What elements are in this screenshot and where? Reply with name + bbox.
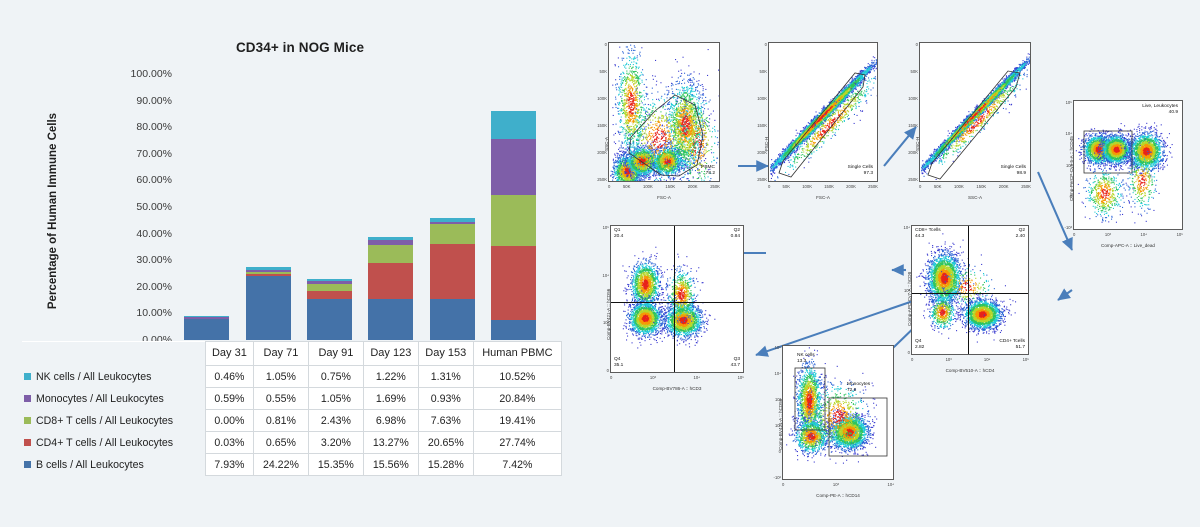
facs-x-ticks: 010³10⁴ (782, 482, 894, 487)
quadrant-vertical-divider (674, 226, 675, 372)
table-cell: 20.65% (418, 432, 473, 454)
y-tick-label: 30.00% (136, 254, 172, 266)
table-cell: 0.46% (205, 366, 253, 388)
legend-row-label: CD8+ T cells / All Leukocytes (22, 410, 205, 432)
bar-column[interactable] (430, 218, 475, 340)
table-header-row: Day 31Day 71Day 91Day 123Day 153Human PB… (22, 342, 562, 366)
table-cell: 0.03% (205, 432, 253, 454)
bar-segment[interactable] (368, 245, 413, 264)
legend-swatch-icon (24, 395, 31, 402)
legend-swatch-icon (24, 417, 31, 424)
bar-segment[interactable] (307, 291, 352, 300)
gate-label: Single Cells97.3 (848, 165, 873, 177)
bar-segment[interactable] (491, 195, 536, 247)
table-cell: 3.20% (308, 432, 363, 454)
facs-x-ticks: 050K100K150K200K250K (608, 184, 720, 189)
y-tick-label: 90.00% (136, 95, 172, 107)
facs-x-axis-label: SSC-A (919, 195, 1031, 200)
table-row: CD8+ T cells / All Leukocytes0.00%0.81%2… (22, 410, 562, 432)
table-cell: 1.22% (363, 366, 418, 388)
chart-title: CD34+ in NOG Mice (150, 40, 450, 55)
table-cell: 7.63% (418, 410, 473, 432)
y-tick-label: 20.00% (136, 281, 172, 293)
legend-swatch-icon (24, 461, 31, 468)
table-corner-cell (22, 342, 205, 366)
table-row: CD4+ T cells / All Leukocytes0.03%0.65%3… (22, 432, 562, 454)
table-cell: 1.69% (363, 388, 418, 410)
table-cell: 1.05% (253, 366, 308, 388)
facs-y-ticks: 050K100K150K200K250K (757, 42, 767, 182)
facs-x-axis-label: Comp-BV510-A :: hCD4 (911, 368, 1029, 373)
y-tick-label: 100.00% (131, 68, 172, 80)
quadrant-label: Q435.1 (614, 357, 623, 369)
facs-x-ticks: 050K100K150K200K250K (768, 184, 878, 189)
data-table: Day 31Day 71Day 91Day 123Day 153Human PB… (22, 341, 562, 476)
legend-swatch-icon (24, 439, 31, 446)
table-cell: 0.75% (308, 366, 363, 388)
gate-label: PBMC78.2 (701, 165, 715, 177)
table-cell: 10.52% (473, 366, 561, 388)
y-tick-label: 50.00% (136, 201, 172, 213)
table-cell: 13.27% (363, 432, 418, 454)
legend-row-label: B cells / All Leukocytes (22, 454, 205, 476)
bar-segment[interactable] (368, 263, 413, 298)
table-cell: 20.84% (473, 388, 561, 410)
table-cell: 1.05% (308, 388, 363, 410)
y-tick-label: 70.00% (136, 148, 172, 160)
facs-plot-cd3-cd56-quadrant[interactable]: Q120.4Q20.84Q343.7Q435.1Comp-BV421-A :: … (610, 225, 744, 373)
facs-panel: PBMC78.2SSC-AFSC-A050K100K150K200K250K05… (586, 0, 1200, 527)
quadrant-label: Q20.84 (731, 228, 740, 240)
quadrant-label: CD4+ Tcells51.7 (999, 339, 1025, 351)
bar-column[interactable] (491, 111, 536, 340)
quadrant-horizontal-divider (611, 302, 743, 303)
quadrant-label: CD8+ Tcells44.3 (915, 228, 941, 240)
bar-segment[interactable] (368, 299, 413, 340)
table-cell: 15.28% (418, 454, 473, 476)
bar-segment[interactable] (307, 299, 352, 340)
table-cell: 27.74% (473, 432, 561, 454)
legend-row-label: CD4+ T cells / All Leukocytes (22, 432, 205, 454)
bar-chart-panel: CD34+ in NOG Mice Percentage of Human Im… (0, 0, 586, 527)
facs-plot-cd4-cd8-quadrant[interactable]: CD8+ Tcells44.3Q22.40CD4+ Tcells51.7Q42.… (911, 225, 1029, 355)
y-axis-ticks: 0.00%10.00%20.00%30.00%40.00%50.00%60.00… (96, 68, 172, 346)
bar-segment[interactable] (430, 299, 475, 340)
table-column-header: Day 91 (308, 342, 363, 366)
facs-plot-canvas: Live, Leukocytes40.9 (1073, 100, 1183, 230)
facs-plot-canvas: NK cells13.3Monocytes72.6 (782, 345, 894, 480)
bar-column[interactable] (184, 316, 229, 340)
legend-row-label: NK cells / All Leukocytes (22, 366, 205, 388)
facs-x-axis-label: Comp-BV786-A :: hCD3 (610, 386, 744, 391)
facs-y-ticks: 10⁵10⁴10³0-10³ (1062, 100, 1072, 230)
quadrant-label: Q42.82 (915, 339, 924, 351)
table-cell: 1.31% (418, 366, 473, 388)
table-cell: 15.35% (308, 454, 363, 476)
table-cell: 2.43% (308, 410, 363, 432)
table-cell: 0.65% (253, 432, 308, 454)
facs-plot-live-leukocytes[interactable]: Live, Leukocytes40.9Comp-PerCP-Cy5-5-A :… (1073, 100, 1183, 230)
quadrant-label: Q343.7 (731, 357, 740, 369)
table-row: B cells / All Leukocytes7.93%24.22%15.35… (22, 454, 562, 476)
quadrant-label: Q120.4 (614, 228, 623, 240)
bar-segment[interactable] (184, 319, 229, 340)
facs-plot-single-cells-ssc[interactable]: Single Cells98.9SSC-HSSC-A050K100K150K20… (919, 42, 1031, 182)
y-tick-label: 60.00% (136, 174, 172, 186)
table-cell: 0.59% (205, 388, 253, 410)
facs-plot-canvas: Q120.4Q20.84Q343.7Q435.1 (610, 225, 744, 373)
y-tick-label: 40.00% (136, 228, 172, 240)
table-cell: 6.98% (363, 410, 418, 432)
facs-y-ticks: 10⁵10⁴10³10²0-10² (771, 345, 781, 480)
table-row: NK cells / All Leukocytes0.46%1.05%0.75%… (22, 366, 562, 388)
facs-x-ticks: 050K100K150K200K250K (919, 184, 1031, 189)
facs-plot-canvas: Single Cells97.3 (768, 42, 878, 182)
facs-x-axis-label: FSC-A (608, 195, 720, 200)
quadrant-label: Q22.40 (1016, 228, 1025, 240)
table-cell: 24.22% (253, 454, 308, 476)
facs-x-axis-label: Comp-PE-A :: hCD14 (782, 493, 894, 498)
bar-segment[interactable] (246, 276, 291, 340)
gate-label: Monocytes72.6 (847, 382, 870, 394)
table-column-header: Day 123 (363, 342, 418, 366)
y-tick-label: 10.00% (136, 307, 172, 319)
table-column-header: Day 31 (205, 342, 253, 366)
table-cell: 15.56% (363, 454, 418, 476)
y-axis-title: Percentage of Human Immune Cells (47, 96, 59, 326)
gate-label: Live, Leukocytes40.9 (1142, 104, 1178, 116)
bar-segment[interactable] (491, 320, 536, 340)
facs-y-ticks: 050K100K150K200K250K (908, 42, 918, 182)
y-tick-label: 80.00% (136, 121, 172, 133)
facs-x-axis-label: Comp-APC-A :: Live_dead (1073, 243, 1183, 248)
bar-segment[interactable] (491, 246, 536, 320)
bar-segment[interactable] (430, 224, 475, 244)
bar-segment[interactable] (491, 111, 536, 139)
table-cell: 7.42% (473, 454, 561, 476)
table-row: Monocytes / All Leukocytes0.59%0.55%1.05… (22, 388, 562, 410)
bar-column[interactable] (246, 267, 291, 340)
facs-plot-canvas: PBMC78.2 (608, 42, 720, 182)
gate-label: Single Cells98.9 (1001, 165, 1026, 177)
table-body: NK cells / All Leukocytes0.46%1.05%0.75%… (22, 366, 562, 476)
bar-segment[interactable] (430, 244, 475, 299)
table-column-header: Day 71 (253, 342, 308, 366)
quadrant-vertical-divider (968, 226, 969, 354)
table-cell: 0.81% (253, 410, 308, 432)
table-cell: 7.93% (205, 454, 253, 476)
facs-plot-pbmc-gate[interactable]: PBMC78.2SSC-AFSC-A050K100K150K200K250K05… (608, 42, 720, 182)
bar-segment[interactable] (491, 139, 536, 194)
bar-column[interactable] (307, 279, 352, 340)
plot-area (176, 74, 544, 340)
facs-plot-nk-monocytes[interactable]: NK cells13.3Monocytes72.6Comp-BV421-A ::… (782, 345, 894, 480)
facs-x-ticks: 010³10⁴10⁵ (911, 357, 1029, 362)
facs-x-ticks: 010³10⁴10⁵ (1073, 232, 1183, 237)
gate-label: NK cells13.3 (797, 353, 815, 365)
table-column-header: Human PBMC (473, 342, 561, 366)
table-cell: 19.41% (473, 410, 561, 432)
legend-row-label: Monocytes / All Leukocytes (22, 388, 205, 410)
table-cell: 0.00% (205, 410, 253, 432)
table-cell: 0.55% (253, 388, 308, 410)
quadrant-horizontal-divider (912, 293, 1028, 294)
table-cell: 0.93% (418, 388, 473, 410)
facs-plot-single-cells-fsc[interactable]: Single Cells97.3FSC-HFSC-A050K100K150K20… (768, 42, 878, 182)
bar-column[interactable] (368, 237, 413, 340)
table-column-header: Day 153 (418, 342, 473, 366)
legend-swatch-icon (24, 373, 31, 380)
facs-x-ticks: 010³10⁴10⁵ (610, 375, 744, 380)
facs-plot-canvas: Single Cells98.9 (919, 42, 1031, 182)
facs-x-axis-label: FSC-A (768, 195, 878, 200)
facs-plot-canvas: CD8+ Tcells44.3Q22.40CD4+ Tcells51.7Q42.… (911, 225, 1029, 355)
facs-y-ticks: 050K100K150K200K250K (597, 42, 607, 182)
facs-y-ticks: 10⁵10⁴10³0 (599, 225, 609, 373)
facs-y-ticks: 10⁴10³0 (900, 225, 910, 355)
